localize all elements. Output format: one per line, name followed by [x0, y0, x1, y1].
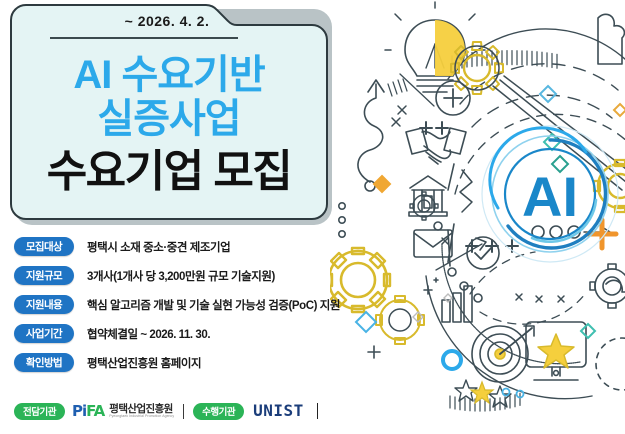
host-organization-pill: 전담기관	[14, 403, 65, 420]
footer-divider-end	[317, 403, 319, 419]
pifa-letter-a: A	[94, 402, 105, 420]
info-row: 지원내용 핵심 알고리즘 개발 및 기술 실현 가능성 검증(PoC) 지원	[14, 290, 334, 319]
date-text: ~ 2026. 4. 2.	[125, 13, 210, 29]
headline-card: ~ 2026. 4. 2. AI 수요기반 실증사업 수요기업 모집	[10, 4, 328, 222]
info-row: 모집대상 평택시 소재 중소·중견 제조기업	[14, 232, 334, 261]
footer-organizations: 전담기관 PiFA 평택산업진흥원 Pyeongtaek Industrial …	[14, 400, 318, 422]
info-badge: 지원내용	[14, 295, 74, 314]
info-list: 모집대상 평택시 소재 중소·중견 제조기업 지원규모 3개사(1개사 당 3,…	[14, 232, 334, 377]
info-badge-label: 지원규모	[26, 268, 62, 283]
info-value: 협약체결일 ~ 2026. 11. 30.	[87, 326, 210, 342]
info-badge: 지원규모	[14, 266, 74, 285]
pifa-wordmark: PiFA	[72, 404, 104, 419]
info-row: 지원규모 3개사(1개사 당 3,200만원 규모 기술지원)	[14, 261, 334, 290]
info-badge-label: 사업기간	[26, 326, 62, 341]
host-organization-label: 전담기관	[23, 404, 56, 418]
info-value: 평택시 소재 중소·중견 제조기업	[87, 239, 230, 255]
pifa-english-name: Pyeongtaek Industrial Promotion Agency	[109, 415, 174, 419]
footer-divider	[183, 404, 184, 419]
operator-organization-pill: 수행기관	[193, 403, 244, 420]
info-badge: 확인방법	[14, 353, 74, 372]
info-value: 3개사(1개사 당 3,200만원 규모 기술지원)	[87, 268, 275, 284]
headline-line-3: 수요기업 모집	[10, 135, 328, 199]
date-underline	[50, 37, 238, 39]
info-value: 핵심 알고리즘 개발 및 기술 실현 가능성 검증(PoC) 지원	[87, 297, 340, 313]
pifa-name-block: 평택산업진흥원 Pyeongtaek Industrial Promotion …	[109, 404, 174, 419]
ai-doodle-illustration: AI	[330, 0, 625, 434]
info-badge-label: 지원내용	[26, 297, 62, 312]
info-badge: 사업기간	[14, 324, 74, 343]
date-row: ~ 2026. 4. 2.	[62, 13, 272, 31]
pifa-letter-p: P	[72, 402, 82, 420]
unist-logo: UNIST	[253, 403, 304, 419]
info-value: 평택산업진흥원 홈페이지	[87, 355, 201, 371]
operator-organization-label: 수행기관	[202, 404, 235, 418]
pifa-letter-f: F	[86, 402, 94, 420]
info-badge: 모집대상	[14, 237, 74, 256]
poster-root: AI ~ 2026. 4. 2. AI 수요기반 실증사업 수요기업 모집	[0, 0, 625, 434]
info-row: 확인방법 평택산업진흥원 홈페이지	[14, 348, 334, 377]
info-badge-label: 모집대상	[26, 239, 62, 254]
info-row: 사업기간 협약체결일 ~ 2026. 11. 30.	[14, 319, 334, 348]
info-badge-label: 확인방법	[26, 355, 62, 370]
pifa-korean-name: 평택산업진흥원	[109, 404, 174, 415]
card-face: ~ 2026. 4. 2. AI 수요기반 실증사업 수요기업 모집	[10, 4, 328, 220]
pifa-logo: PiFA 평택산업진흥원 Pyeongtaek Industrial Promo…	[72, 404, 174, 419]
ai-core-label: AI	[522, 165, 578, 228]
